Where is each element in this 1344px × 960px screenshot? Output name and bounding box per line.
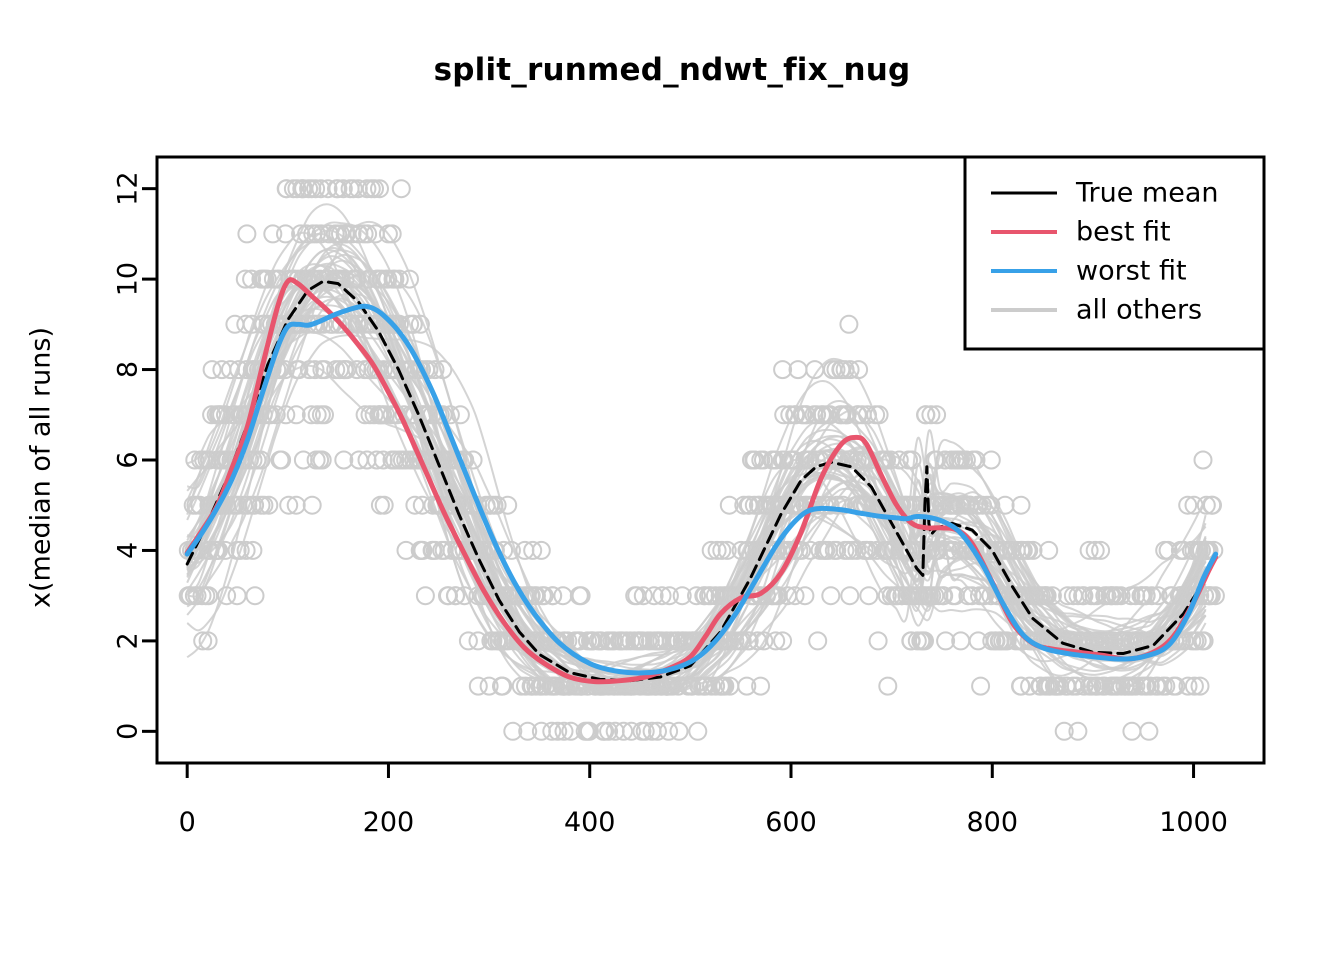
scatter-point bbox=[226, 316, 243, 333]
y-tick-label: 6 bbox=[113, 451, 144, 468]
scatter-point bbox=[1140, 723, 1157, 740]
scatter-point bbox=[671, 723, 688, 740]
plot-canvas: 02004006008001000 024681012 True meanbes… bbox=[0, 0, 1344, 960]
x-tick-label: 200 bbox=[363, 807, 415, 838]
legend-label[interactable]: True mean bbox=[1075, 178, 1219, 209]
scatter-point bbox=[1195, 452, 1212, 469]
scatter-point bbox=[822, 587, 839, 604]
chart-figure: split_runmed_ndwt_fix_nug x(median of al… bbox=[0, 0, 1344, 960]
scatter-point bbox=[372, 497, 389, 514]
x-axis-ticks: 02004006008001000 bbox=[179, 763, 1228, 838]
scatter-point bbox=[841, 587, 858, 604]
scatter-point bbox=[879, 678, 896, 695]
y-tick-label: 12 bbox=[113, 171, 144, 205]
y-tick-label: 8 bbox=[113, 361, 144, 378]
scatter-point bbox=[304, 497, 321, 514]
scatter-point bbox=[860, 587, 877, 604]
scatter-point bbox=[204, 361, 221, 378]
scatter-point bbox=[376, 497, 393, 514]
scatter-point bbox=[460, 632, 477, 649]
scatter-point bbox=[295, 452, 312, 469]
scatter-point bbox=[1123, 723, 1140, 740]
y-tick-label: 2 bbox=[113, 632, 144, 649]
x-tick-label: 800 bbox=[967, 807, 1019, 838]
x-tick-label: 0 bbox=[179, 807, 196, 838]
scatter-point bbox=[554, 587, 571, 604]
x-tick-label: 1000 bbox=[1159, 807, 1228, 838]
scatter-point bbox=[840, 316, 857, 333]
y-axis-ticks: 024681012 bbox=[113, 171, 158, 739]
scatter-point bbox=[660, 723, 677, 740]
scatter-point bbox=[470, 678, 487, 695]
legend-label[interactable]: all others bbox=[1076, 295, 1202, 326]
legend: True meanbest fitworst fitall others bbox=[965, 157, 1264, 349]
scatter-point bbox=[809, 632, 826, 649]
scatter-point bbox=[247, 587, 264, 604]
scatter-point bbox=[1013, 497, 1030, 514]
legend-label[interactable]: best fit bbox=[1076, 217, 1171, 248]
y-tick-label: 0 bbox=[113, 723, 144, 740]
y-tick-label: 4 bbox=[113, 542, 144, 559]
scatter-point bbox=[238, 225, 255, 242]
y-tick-label: 10 bbox=[113, 262, 144, 296]
scatter-point bbox=[417, 587, 434, 604]
scatter-point bbox=[796, 587, 813, 604]
run-curve bbox=[187, 305, 1205, 670]
legend-label[interactable]: worst fit bbox=[1076, 256, 1187, 287]
scatter-point bbox=[689, 723, 706, 740]
scatter-point bbox=[493, 678, 510, 695]
scatter-point bbox=[1040, 542, 1057, 559]
scatter-point bbox=[229, 587, 246, 604]
x-tick-label: 600 bbox=[765, 807, 817, 838]
scatter-point bbox=[393, 180, 410, 197]
scatter-point bbox=[972, 678, 989, 695]
x-tick-label: 400 bbox=[564, 807, 616, 838]
scatter-point bbox=[870, 632, 887, 649]
